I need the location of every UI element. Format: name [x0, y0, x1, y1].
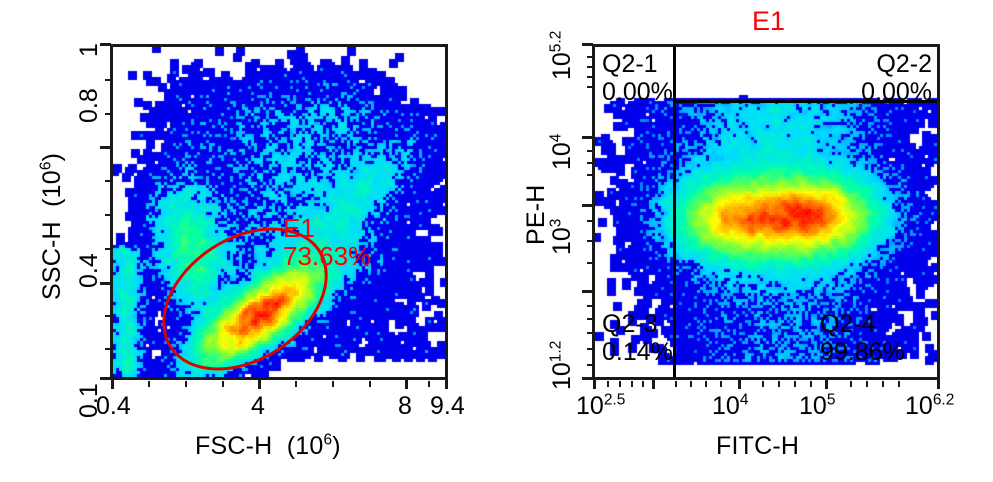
quadrant-label-q2-2: Q2-2 0.00% [812, 50, 932, 106]
right-x-minor-tick [866, 381, 868, 387]
left-x-minor-tick [222, 381, 224, 387]
left-x-axis-title: FSC-H (106) [195, 432, 341, 461]
right-y-axis-title: PE-H [522, 184, 551, 245]
left-x-axis-exp: 6 [323, 432, 332, 449]
quadrant-label-q2-3-name: Q2-3 [602, 310, 673, 338]
right-x-major-tick [937, 378, 940, 389]
left-y-major-tick [100, 43, 111, 46]
left-x-tick-0_4: 0.4 [96, 392, 131, 421]
left-x-major-tick [111, 378, 114, 389]
left-y-minor-tick [105, 180, 111, 182]
quadrant-label-q2-1-percent: 0.00% [602, 78, 673, 106]
left-x-minor-tick [148, 381, 150, 387]
right-y-major-tick [582, 43, 593, 46]
left-x-tick-8: 8 [398, 392, 412, 421]
quadrant-vertical-divider[interactable] [673, 47, 676, 377]
left-y-minor-tick [105, 214, 111, 216]
left-x-axis-title-unit: (106) [280, 432, 341, 460]
right-x-tick-5: 105 [799, 392, 835, 421]
right-y-minor-tick [587, 262, 593, 264]
left-y-minor-tick [105, 248, 111, 250]
quadrant-label-q2-4: Q2-4 99.86% [820, 310, 905, 366]
right-y-major-tick [582, 377, 593, 380]
left-y-major-tick [100, 282, 111, 285]
right-x-minor-tick [642, 381, 644, 387]
right-x-minor-tick [619, 381, 621, 387]
right-y-minor-tick [587, 240, 593, 242]
left-y-minor-tick [105, 113, 111, 115]
right-x-minor-tick [690, 381, 692, 387]
left-scatter-canvas [113, 47, 445, 377]
left-x-minor-tick [295, 381, 297, 387]
left-x-axis-title-main: FSC-H [195, 432, 272, 460]
left-y-axis-title: SSC-H (106) [38, 153, 67, 300]
left-x-minor-tick [369, 381, 371, 387]
quadrant-label-q2-2-percent: 0.00% [812, 78, 932, 106]
right-x-major-tick [652, 378, 655, 389]
quadrant-label-q2-4-percent: 99.86% [820, 338, 905, 366]
panel-fitc-pe: E1 PE-H 105.2 104 103 101.2 [500, 0, 993, 482]
left-y-axis-title-main: SSC-H [38, 221, 66, 300]
left-y-tick-0_8: 0.8 [75, 88, 104, 123]
left-plot-frame [110, 44, 448, 380]
figure-root: SSC-H (106) 1 0.8 0.4 0.1 [0, 0, 993, 482]
quadrant-label-q2-1-name: Q2-1 [602, 50, 673, 78]
left-x-tick-9_4: 9.4 [430, 392, 465, 421]
right-x-minor-tick [794, 381, 796, 387]
right-y-minor-tick [587, 364, 593, 366]
right-x-minor-tick [850, 381, 852, 387]
quadrant-label-q2-4-name: Q2-4 [820, 310, 905, 338]
left-y-major-tick [100, 146, 111, 149]
gate-label-e1-name: E1 [283, 215, 315, 242]
quadrant-label-q2-3: Q2-3 0.14% [602, 310, 673, 366]
right-y-minor-tick [587, 305, 593, 307]
left-x-minor-tick [332, 381, 334, 387]
right-x-axis-title: FITC-H [716, 432, 799, 461]
right-x-major-tick [738, 378, 741, 389]
left-x-minor-tick [428, 381, 430, 387]
right-y-minor-tick [587, 66, 593, 68]
right-y-major-tick [582, 136, 593, 139]
right-x-minor-tick [631, 381, 633, 387]
right-y-tick-1_2: 101.2 [548, 341, 577, 390]
right-y-tick-3: 103 [548, 219, 577, 255]
right-x-minor-tick [778, 381, 780, 387]
quadrant-label-q2-1: Q2-1 0.00% [602, 50, 673, 106]
right-x-minor-tick [607, 381, 609, 387]
right-y-minor-tick [587, 150, 593, 152]
right-x-tick-6_2: 106.2 [905, 392, 954, 421]
right-y-minor-tick [587, 174, 593, 176]
right-y-tick-5_2: 105.2 [548, 31, 577, 80]
left-x-major-tick [258, 378, 261, 389]
right-y-minor-tick [587, 332, 593, 334]
right-y-major-tick [582, 290, 593, 293]
right-x-minor-tick [762, 381, 764, 387]
left-x-major-tick [445, 378, 448, 389]
left-y-minor-tick [105, 315, 111, 317]
right-panel-title: E1 [752, 6, 785, 37]
right-x-tick-2_5: 102.5 [576, 392, 625, 421]
left-y-axis-exp: 6 [38, 161, 55, 170]
left-y-axis-title-unit: (106) [38, 153, 66, 214]
gate-label-e1-percent: 73.63% [283, 243, 371, 270]
right-y-minor-tick [587, 220, 593, 222]
right-x-minor-tick [705, 381, 707, 387]
left-x-minor-tick [185, 381, 187, 387]
right-y-minor-tick [587, 76, 593, 78]
right-x-major-tick [825, 378, 828, 389]
right-x-minor-tick [675, 381, 677, 387]
right-y-minor-tick [587, 348, 593, 350]
right-y-major-tick [582, 204, 593, 207]
left-y-minor-tick [105, 79, 111, 81]
left-x-major-tick [405, 378, 408, 389]
right-y-minor-tick [587, 86, 593, 88]
right-x-minor-tick [898, 381, 900, 387]
left-y-major-tick [100, 377, 111, 380]
quadrant-label-q2-2-name: Q2-2 [812, 50, 932, 78]
right-x-minor-tick [720, 381, 722, 387]
left-x-tick-4: 4 [251, 392, 265, 421]
right-y-minor-tick [587, 56, 593, 58]
left-y-minor-tick [105, 348, 111, 350]
right-y-minor-tick [587, 162, 593, 164]
right-y-tick-4: 104 [548, 134, 577, 170]
right-y-minor-tick [587, 318, 593, 320]
right-x-minor-tick [810, 381, 812, 387]
right-x-minor-tick [882, 381, 884, 387]
right-x-tick-4: 104 [712, 392, 748, 421]
right-x-major-tick [593, 378, 596, 389]
panel-fsc-ssc: SSC-H (106) 1 0.8 0.4 0.1 [0, 0, 500, 482]
quadrant-label-q2-3-percent: 0.14% [602, 338, 673, 366]
